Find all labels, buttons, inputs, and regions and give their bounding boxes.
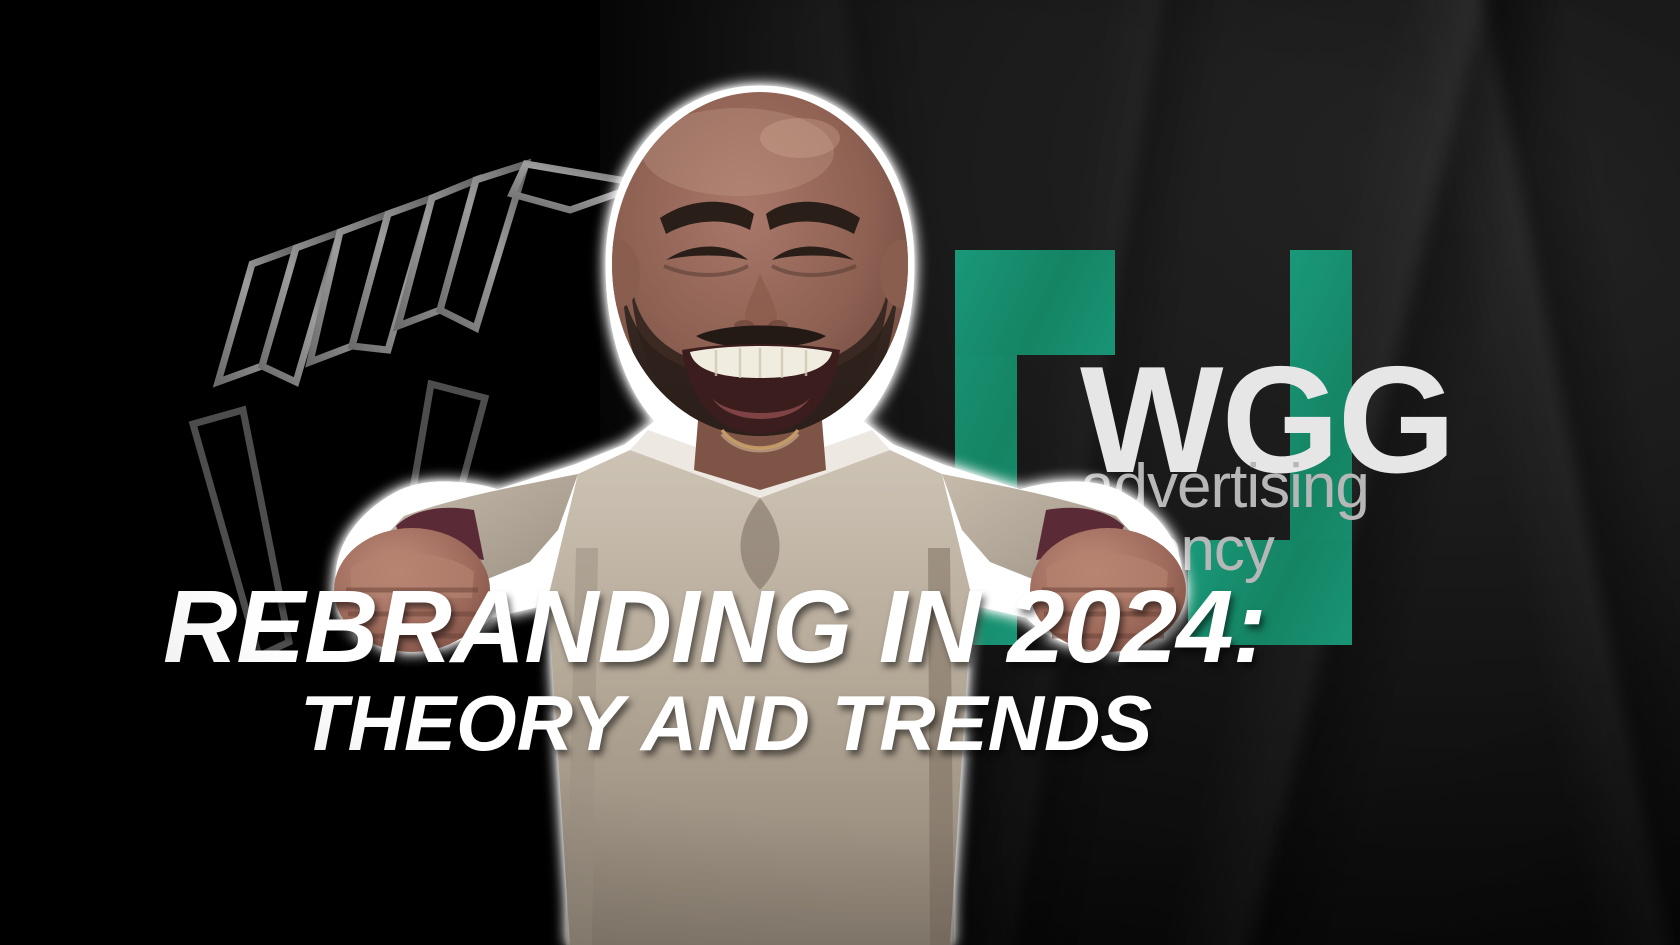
thumbnail-canvas: WGG advertising agency [0, 0, 1680, 945]
vignette-overlay [0, 0, 1680, 945]
